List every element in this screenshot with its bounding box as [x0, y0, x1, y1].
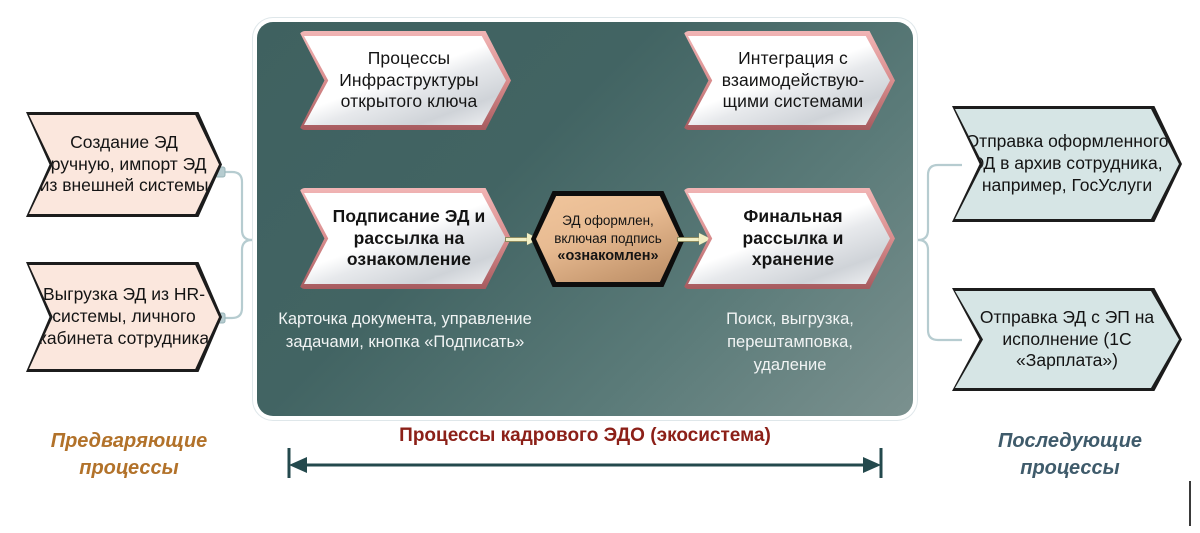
caption-following-processes: Последующие процессы — [950, 428, 1190, 482]
hex-line-1: ЭД оформлен, — [554, 212, 662, 230]
box-pki-processes[interactable]: Процессы Инфраструктуры открытого ключа — [299, 31, 511, 130]
diagram-canvas: Процессы Инфраструктуры открытого ключа … — [0, 0, 1200, 533]
box-pki-processes-label: Процессы Инфраструктуры открытого ключа — [304, 48, 506, 113]
milestone-ed-completed[interactable]: ЭД оформлен, включая подпись «ознакомлен… — [531, 191, 685, 287]
milestone-ed-completed-text: ЭД оформлен, включая подпись «ознакомлен… — [552, 212, 664, 266]
box-pki-processes-face: Процессы Инфраструктуры открытого ключа — [304, 36, 506, 125]
box-sign-ed-label: Подписание ЭД и рассылка на ознакомление — [304, 206, 506, 271]
milestone-ed-completed-face: ЭД оформлен, включая подпись «ознакомлен… — [536, 196, 680, 282]
box-export-hr-label: Выгрузка ЭД из HR-системы, личного кабин… — [29, 284, 219, 350]
desc-right: Поиск, выгрузка, перештамповка, удаление — [690, 308, 890, 376]
box-integration-label: Интеграция с взаимодействую-щими система… — [688, 48, 890, 113]
box-send-archive-label: Отправка оформленного ЭД в архив сотрудн… — [955, 131, 1179, 197]
caption-preceding-processes: Предваряющие процессы — [12, 428, 246, 482]
box-final-distribution[interactable]: Финальная рассылка и хранение — [683, 188, 895, 289]
edge-artifact-line — [1189, 481, 1191, 526]
scope-double-arrow — [285, 448, 885, 480]
box-export-hr[interactable]: Выгрузка ЭД из HR-системы, личного кабин… — [26, 262, 222, 372]
box-integration-face: Интеграция с взаимодействую-щими система… — [688, 36, 890, 125]
box-send-archive[interactable]: Отправка оформленного ЭД в архив сотрудн… — [952, 106, 1182, 222]
box-final-distribution-label: Финальная рассылка и хранение — [688, 206, 890, 271]
box-integration[interactable]: Интеграция с взаимодействую-щими система… — [683, 31, 895, 130]
hex-line-3: «ознакомлен» — [554, 247, 662, 266]
box-final-distribution-face: Финальная рассылка и хранение — [688, 193, 890, 284]
box-create-ed[interactable]: Создание ЭД вручную, импорт ЭД из внешне… — [26, 112, 222, 217]
box-create-ed-face: Создание ЭД вручную, импорт ЭД из внешне… — [29, 115, 219, 214]
box-sign-ed[interactable]: Подписание ЭД и рассылка на ознакомление — [299, 188, 511, 289]
box-create-ed-label: Создание ЭД вручную, импорт ЭД из внешне… — [29, 132, 219, 198]
center-caption: Процессы кадрового ЭДО (экосистема) — [280, 425, 890, 447]
box-send-exec-label: Отправка ЭД с ЭП на исполнение (1С «Зарп… — [955, 307, 1179, 373]
box-send-exec[interactable]: Отправка ЭД с ЭП на исполнение (1С «Зарп… — [952, 288, 1182, 391]
hex-line-2: включая подпись — [554, 230, 662, 248]
box-send-archive-face: Отправка оформленного ЭД в архив сотрудн… — [955, 109, 1179, 219]
desc-left: Карточка документа, управление задачами,… — [278, 308, 532, 354]
box-send-exec-face: Отправка ЭД с ЭП на исполнение (1С «Зарп… — [955, 291, 1179, 388]
box-sign-ed-face: Подписание ЭД и рассылка на ознакомление — [304, 193, 506, 284]
box-export-hr-face: Выгрузка ЭД из HR-системы, личного кабин… — [29, 265, 219, 369]
